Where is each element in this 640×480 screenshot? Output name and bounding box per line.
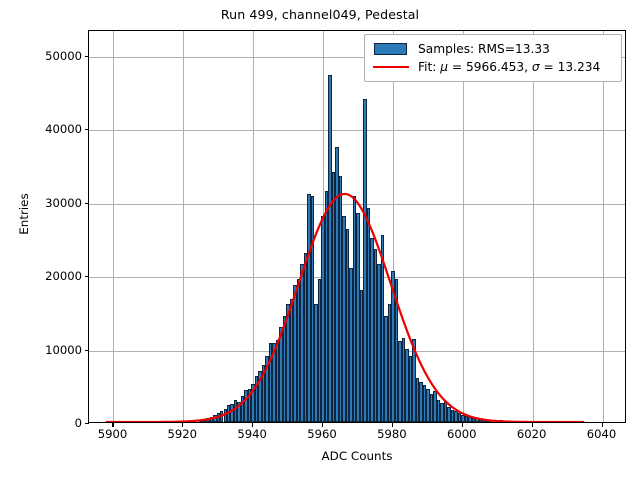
x-axis-label: ADC Counts — [88, 449, 626, 463]
y-axis-tick-labels: 01000020000300004000050000 — [34, 30, 82, 423]
y-axis-tick-label: 0 — [36, 416, 82, 430]
x-axis-tick-label: 6020 — [502, 427, 562, 441]
x-axis-tick-label: 6000 — [432, 427, 492, 441]
x-axis-tick-label: 5960 — [292, 427, 352, 441]
x-axis-tick-label: 5940 — [222, 427, 282, 441]
y-axis-tick-mark — [85, 56, 89, 57]
legend-fit-mid: = 5966.453, — [448, 60, 532, 74]
x-axis-tick-label: 5980 — [362, 427, 422, 441]
y-axis-tick-mark — [85, 350, 89, 351]
y-axis-tick-mark — [85, 276, 89, 277]
legend-label-samples: Samples: RMS=13.33 — [418, 42, 550, 56]
page-title: Run 499, channel049, Pedestal — [0, 7, 640, 22]
gaussian-fit-curve — [89, 31, 625, 422]
y-axis-tick-label: 50000 — [36, 49, 82, 63]
y-axis-tick-label: 40000 — [36, 122, 82, 136]
x-axis-tick-label: 5920 — [152, 427, 212, 441]
x-axis-tick-label: 5900 — [82, 427, 142, 441]
y-axis-tick-marks — [84, 30, 89, 423]
y-axis-tick-mark — [85, 129, 89, 130]
y-axis-tick-label: 10000 — [36, 343, 82, 357]
chart-legend: Samples: RMS=13.33 Fit: μ = 5966.453, σ … — [364, 34, 622, 82]
legend-patch-icon — [372, 42, 410, 56]
y-axis-label: Entries — [17, 134, 31, 294]
legend-fit-prefix: Fit: — [418, 60, 440, 74]
matplotlib-figure: Run 499, channel049, Pedestal 0100002000… — [0, 0, 640, 480]
y-axis-tick-mark — [85, 203, 89, 204]
legend-item-fit: Fit: μ = 5966.453, σ = 13.234 — [372, 58, 614, 76]
legend-fit-post: = 13.234 — [540, 60, 601, 74]
x-axis-tick-label: 6040 — [572, 427, 632, 441]
legend-line-icon — [372, 60, 410, 74]
legend-fit-sigma: σ — [532, 60, 540, 74]
x-axis-ticks: 59005920594059605980600060206040 — [88, 423, 626, 447]
legend-fit-mu: μ — [440, 60, 448, 74]
y-axis-tick-label: 30000 — [36, 196, 82, 210]
legend-item-samples: Samples: RMS=13.33 — [372, 40, 614, 58]
legend-label-fit: Fit: μ = 5966.453, σ = 13.234 — [418, 60, 600, 74]
y-axis-tick-label: 20000 — [36, 269, 82, 283]
plot-axes — [88, 30, 626, 423]
